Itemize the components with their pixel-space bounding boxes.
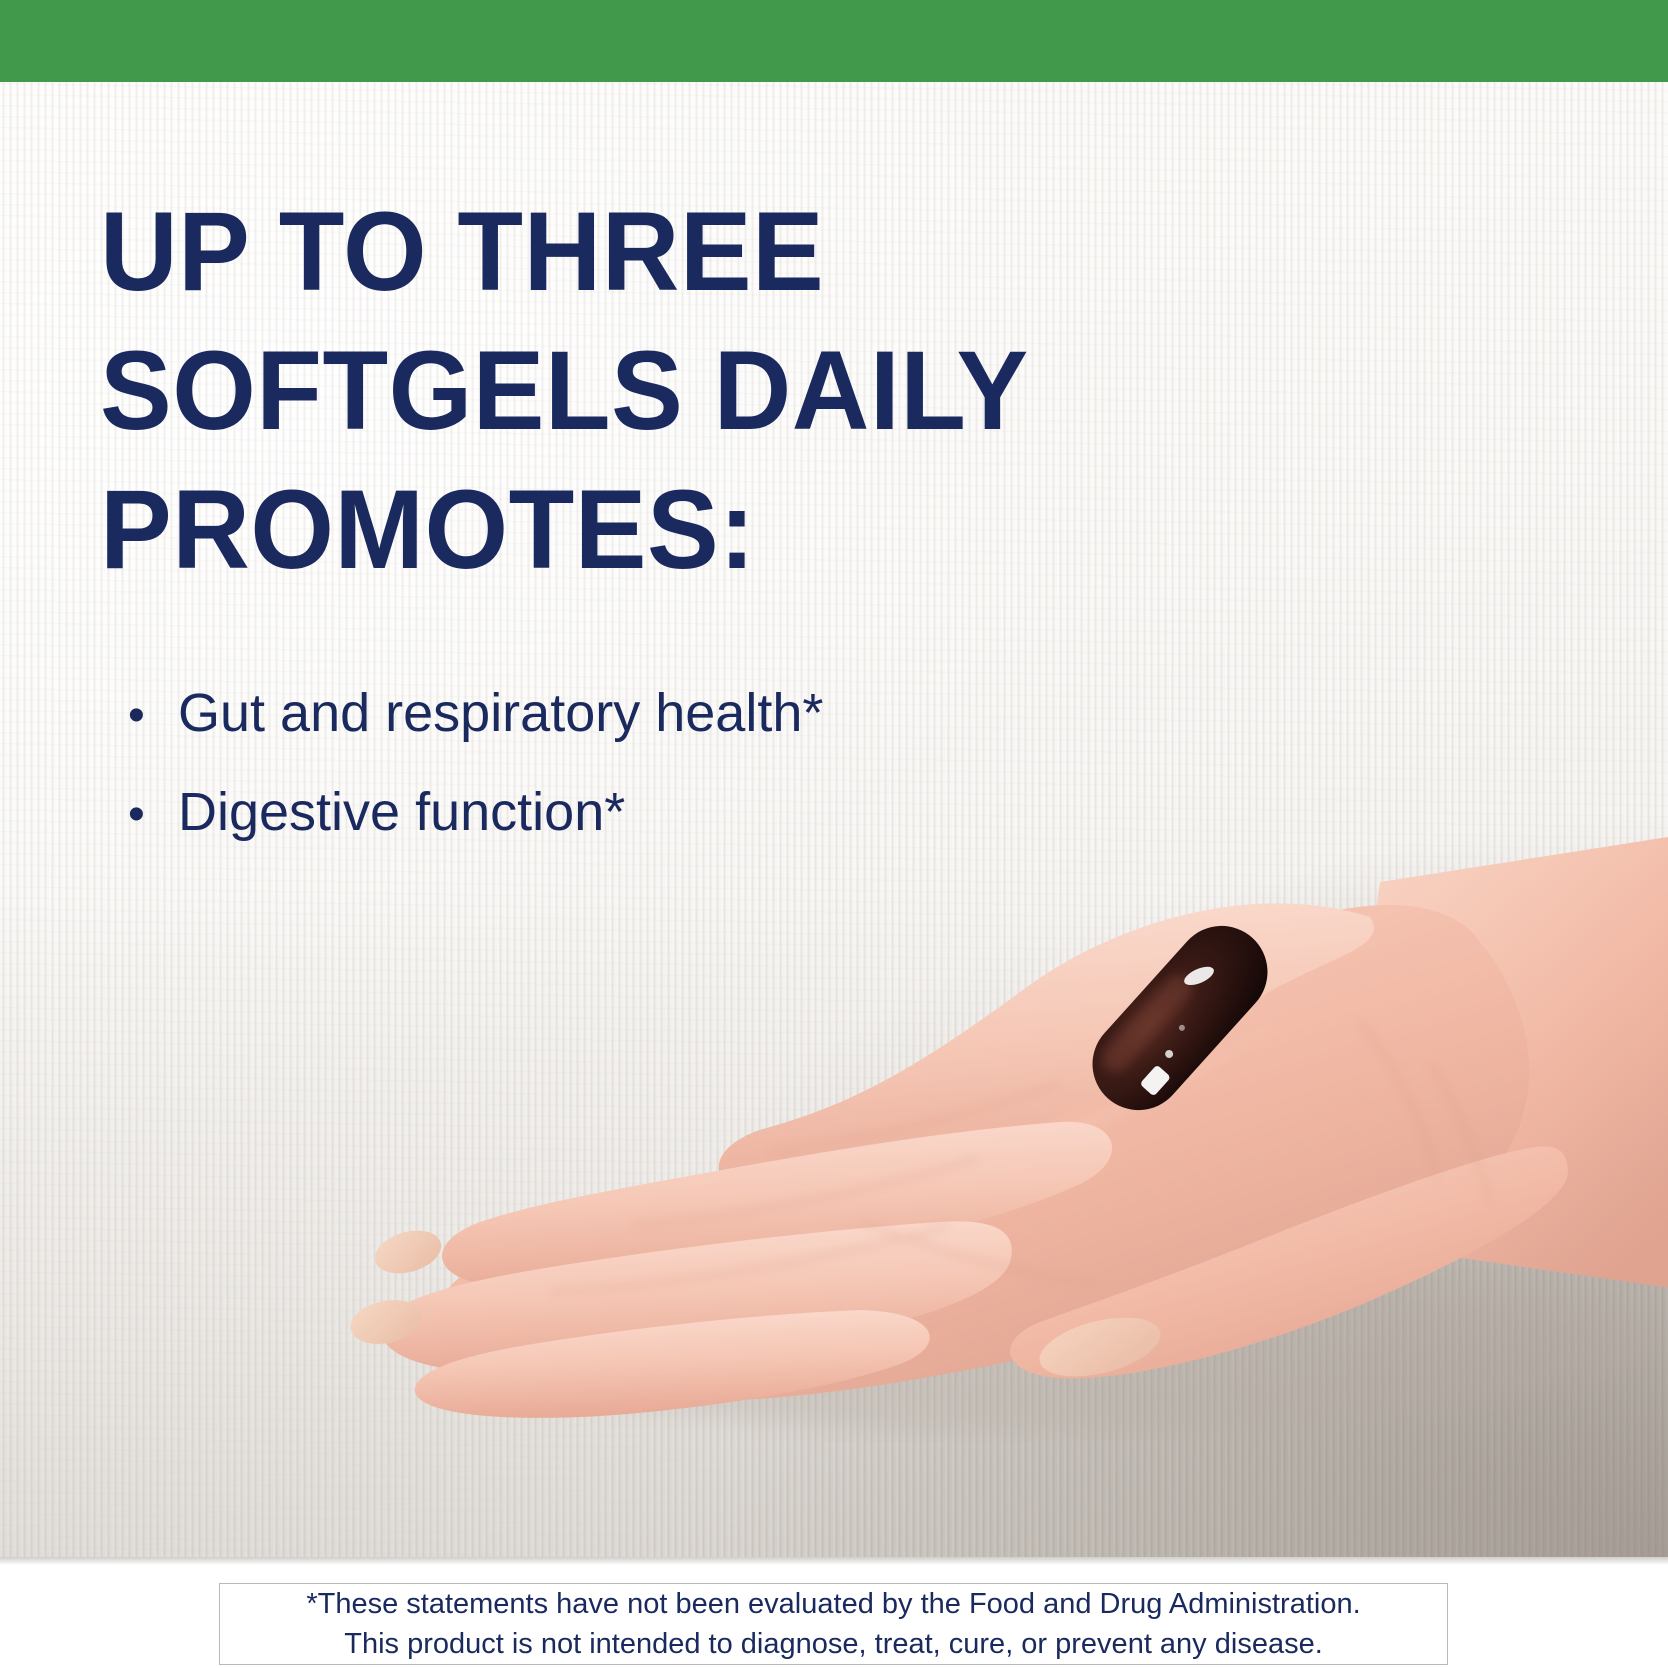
list-item: • Digestive function*	[128, 764, 1128, 863]
page-title: UP TO THREE SOFTGELS DAILY PROMOTES:	[100, 182, 1233, 599]
disclaimer-line-1: *These statements have not been evaluate…	[306, 1584, 1360, 1624]
benefit-label-2: Digestive function*	[178, 764, 1128, 860]
hand-illustration	[300, 822, 1668, 1442]
bullet-dot-icon: •	[128, 668, 178, 764]
fda-disclaimer-box: *These statements have not been evaluate…	[219, 1583, 1448, 1665]
open-palm-holding-softgel	[300, 822, 1668, 1442]
footer: *These statements have not been evaluate…	[0, 1557, 1668, 1668]
green-brand-band	[0, 0, 1668, 82]
bullet-dot-icon: •	[128, 767, 178, 863]
benefit-label-1: Gut and respiratory health*	[178, 665, 1128, 761]
list-item: • Gut and respiratory health*	[128, 665, 1128, 764]
benefit-list: • Gut and respiratory health* • Digestiv…	[128, 665, 1128, 863]
fingertip-nail-1	[370, 1223, 446, 1280]
disclaimer-line-2: This product is not intended to diagnose…	[344, 1624, 1323, 1664]
product-info-card: UP TO THREE SOFTGELS DAILY PROMOTES: • G…	[0, 0, 1668, 1668]
photo-edge-shadow	[0, 1557, 1668, 1565]
